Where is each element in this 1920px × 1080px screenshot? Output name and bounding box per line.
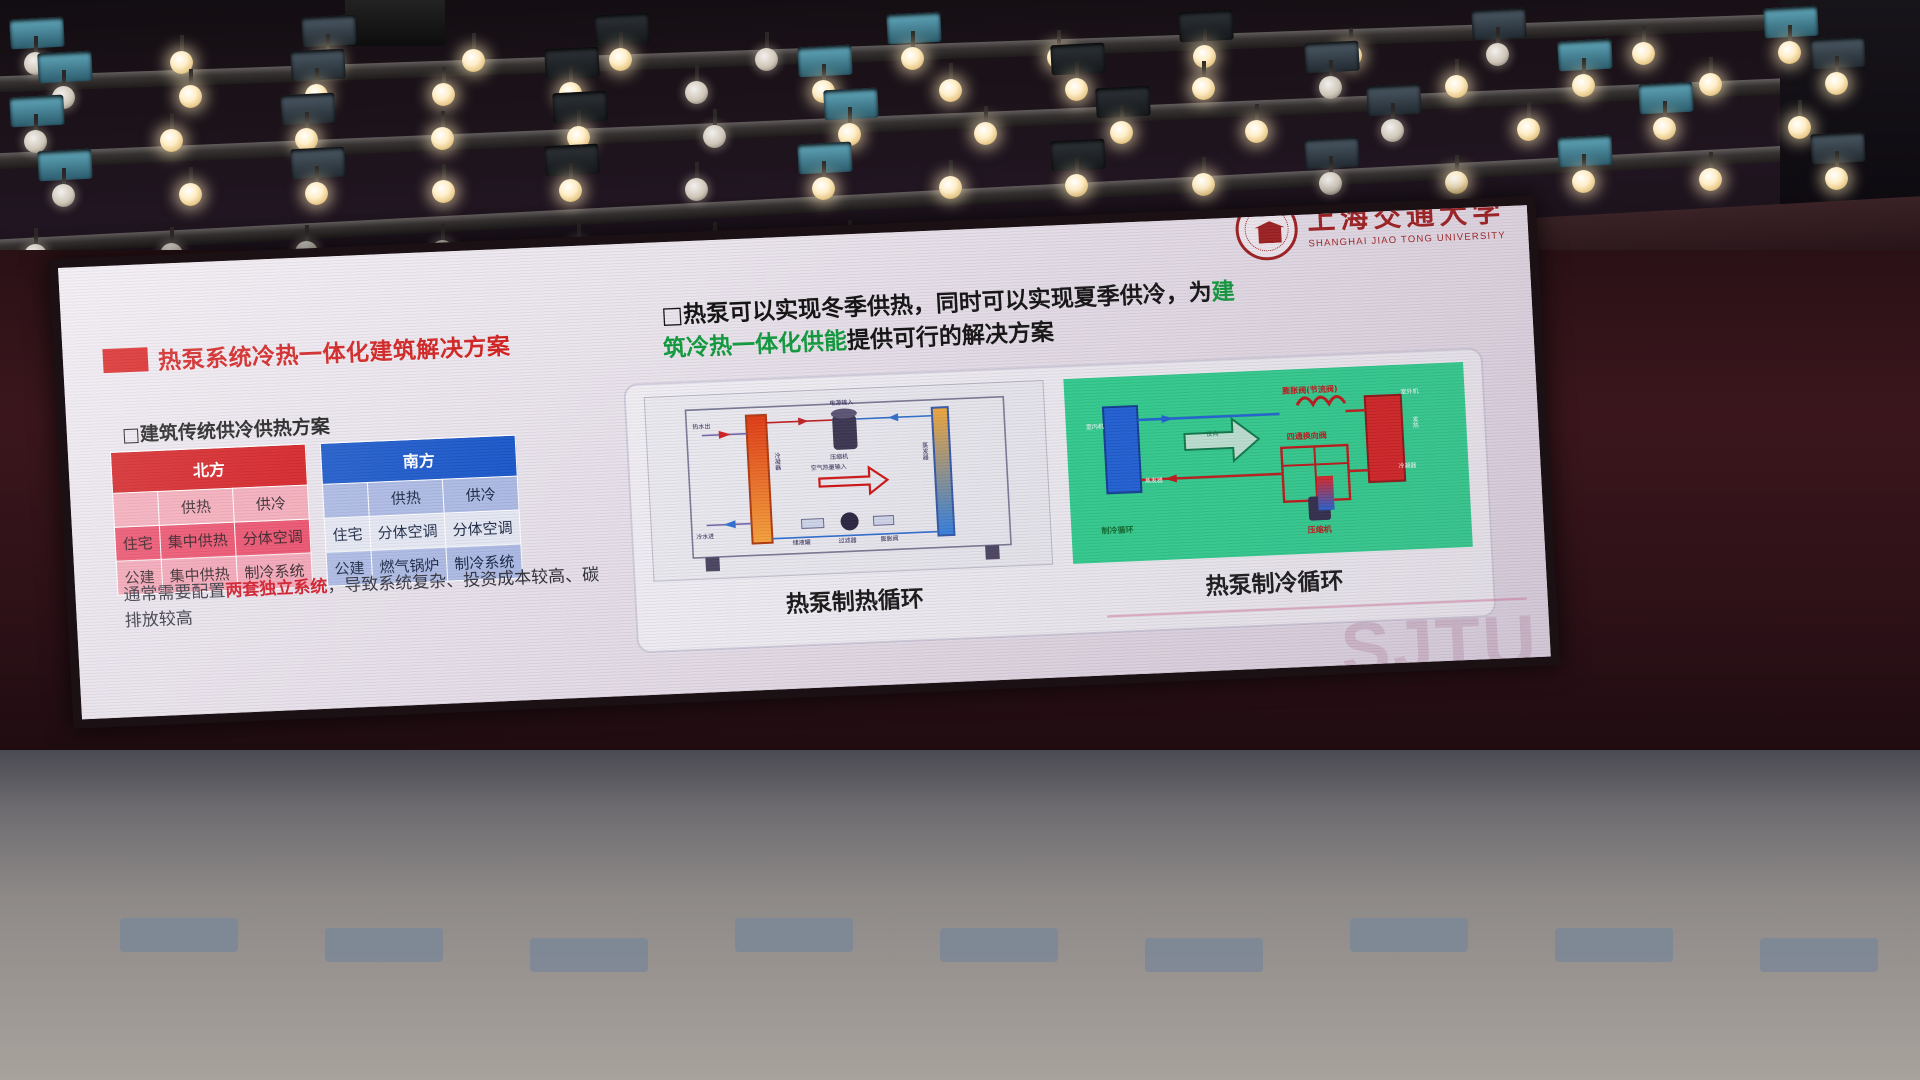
chair-back [530, 938, 648, 972]
stage-light-bulb [755, 48, 778, 71]
south-sub-0 [322, 482, 369, 518]
stage-light-bulb [1110, 121, 1133, 144]
chair-back [1760, 938, 1878, 972]
chair-back [325, 928, 443, 962]
heating-cycle-diagram: 热水出 冷水进 冷凝器 压缩机 电源输入 空气热量输入 蒸发器 储液罐 过滤器 … [644, 380, 1053, 582]
diagram-caption-cooling: 热泵制冷循环 [1074, 556, 1475, 607]
slide-title-row: 热泵系统冷热一体化建筑解决方案 [102, 327, 511, 378]
diagram-label-condenser-2: 冷凝器 [1398, 460, 1416, 470]
stage-light-bulb [685, 81, 708, 104]
speaker-box [345, 0, 445, 46]
stage-light-bulb [1699, 168, 1722, 191]
diagram-label-hot-water-out: 热水出 [692, 421, 710, 431]
diagram-label-liquid-tank: 储液罐 [792, 537, 810, 547]
stage-light-bulb [974, 122, 997, 145]
stage-light-bulb [431, 127, 454, 150]
chair-back [940, 928, 1058, 962]
chair-back [735, 918, 853, 952]
south-sub-2: 供冷 [442, 476, 519, 513]
note-part-1: 通常需要配置 [123, 581, 226, 605]
stage-light-bulb [1381, 119, 1404, 142]
north-sub-0 [113, 491, 160, 527]
stage-light-bulb [685, 178, 708, 201]
diagram-label-heat-release: 发热 [1410, 416, 1420, 428]
title-accent-bar [102, 347, 148, 373]
stage-light-bulb [939, 176, 962, 199]
led-screen: 上海交通大学 SHANGHAI JIAO TONG UNIVERSITY 热泵系… [58, 205, 1551, 719]
south-table: 南方 供热 供冷 住宅 分体空调 分体空调 公建 燃气锅炉 制冷系统 [320, 435, 524, 587]
stage-light-bulb [1065, 78, 1088, 101]
diagram-label-expansion-valve: 膨胀阀 [880, 533, 898, 543]
presentation-slide: 上海交通大学 SHANGHAI JIAO TONG UNIVERSITY 热泵系… [58, 205, 1551, 719]
north-r0-c0: 住宅 [114, 525, 161, 561]
stage-light-bulb [703, 125, 726, 148]
diagram-label-indoor-unit: 室内机 [1086, 421, 1104, 431]
stage-light-bulb [1572, 74, 1595, 97]
left-section-heading: □建筑传统供冷供热方案 [121, 412, 330, 448]
stage-light-bulb [1517, 118, 1540, 141]
stage-light-bulb [559, 179, 582, 202]
stage-light-bulb [1319, 172, 1342, 195]
diagram-label-compressor: 压缩机 [830, 451, 848, 461]
headline-part-2: 建 [1211, 279, 1235, 306]
diagram-label-power-input: 电源输入 [829, 397, 853, 407]
audience-area [0, 750, 1920, 1080]
diagram-label-evaporator: 蒸发器 [919, 442, 929, 460]
diagram-label-outdoor-unit: 室外机 [1400, 386, 1418, 396]
diagram-label-reverse: 反向 [1206, 429, 1218, 439]
cooling-cycle-diagram: 室内机 室外机 膨胀阀(节流阀) 四通换向阀 蒸发器 冷凝器 发热 反向 制冷循… [1063, 362, 1472, 564]
south-sub-1: 供热 [367, 479, 444, 516]
slide-title: 热泵系统冷热一体化建筑解决方案 [157, 327, 511, 376]
north-r0-c2: 分体空调 [234, 519, 311, 556]
stage-light-bulb [179, 85, 202, 108]
headline-part-4: 提供可行的解决方案 [846, 320, 1054, 355]
stage-light-bulb [1632, 42, 1655, 65]
stage-light-bulb [305, 182, 328, 205]
stage-light-bulb [812, 177, 835, 200]
stage-light-bulb [24, 130, 47, 153]
stage-light-bulb [1486, 43, 1509, 66]
north-sub-1: 供热 [158, 488, 235, 525]
stage-light-bulb [432, 180, 455, 203]
stage-light-bulb [609, 48, 632, 71]
north-r0-c1: 集中供热 [159, 522, 236, 559]
diagram-label-compressor-2: 压缩机 [1307, 524, 1332, 536]
stage-light-bulb [1788, 116, 1811, 139]
chair-back [1350, 918, 1468, 952]
stage-light-bulb [901, 47, 924, 70]
photo-scene: 上海交通大学 SHANGHAI JIAO TONG UNIVERSITY 热泵系… [0, 0, 1920, 1080]
stage-light-bulb [939, 79, 962, 102]
stage-light-bulb [160, 129, 183, 152]
stage-light-bulb [1572, 170, 1595, 193]
chair-back [1145, 938, 1263, 972]
north-sub-2: 供冷 [232, 485, 309, 522]
south-r0-c0: 住宅 [324, 516, 371, 552]
diagram-label-air-heat-input: 空气热量输入 [810, 461, 846, 472]
diagram-label-expansion-valve-2: 膨胀阀(节流阀) [1282, 383, 1338, 396]
diagram-label-evaporator-2: 蒸发器 [1145, 475, 1163, 485]
diagram-label-four-way-valve: 四通换向阀 [1286, 430, 1327, 443]
diagram-label-cooling-cycle: 制冷循环 [1101, 524, 1134, 536]
diagram-caption-heating: 热泵制热循环 [654, 574, 1055, 625]
diagram-label-cold-water-in: 冷水进 [696, 531, 714, 541]
stage-light-bulb [432, 83, 455, 106]
headline-part-3: 筑冷热一体化供能 [663, 329, 848, 363]
stage-light-bulb [1192, 173, 1215, 196]
south-r0-c2: 分体空调 [444, 510, 521, 547]
stage-light-bulb [179, 183, 202, 206]
stage-light-bulb [1319, 76, 1342, 99]
chair-back [120, 918, 238, 952]
stage-light-bulb [1192, 77, 1215, 100]
note-part-2: 两套独立系统 [225, 577, 328, 601]
chair-back [1555, 928, 1673, 962]
stage-light-bulb [1445, 171, 1468, 194]
stage-light-bulb [52, 184, 75, 207]
stage-light-bulb [1245, 120, 1268, 143]
stage-light-bulb [1653, 117, 1676, 140]
stage-light-bulb [1699, 73, 1722, 96]
diagram-label-condenser: 冷凝器 [772, 452, 782, 470]
north-table: 北方 供热 供冷 住宅 集中供热 分体空调 公建 集中供热 制冷系统 [110, 444, 314, 596]
south-r0-c1: 分体空调 [369, 513, 446, 550]
headline-part-1: □热泵可以实现冬季供热，同时可以实现夏季供冷，为 [661, 280, 1213, 330]
diagram-label-filter: 过滤器 [838, 535, 856, 545]
stage-light-bulb [1778, 41, 1801, 64]
slide-headline: □热泵可以实现冬季供热，同时可以实现夏季供冷，为建 筑冷热一体化供能提供可行的解… [661, 266, 1474, 367]
